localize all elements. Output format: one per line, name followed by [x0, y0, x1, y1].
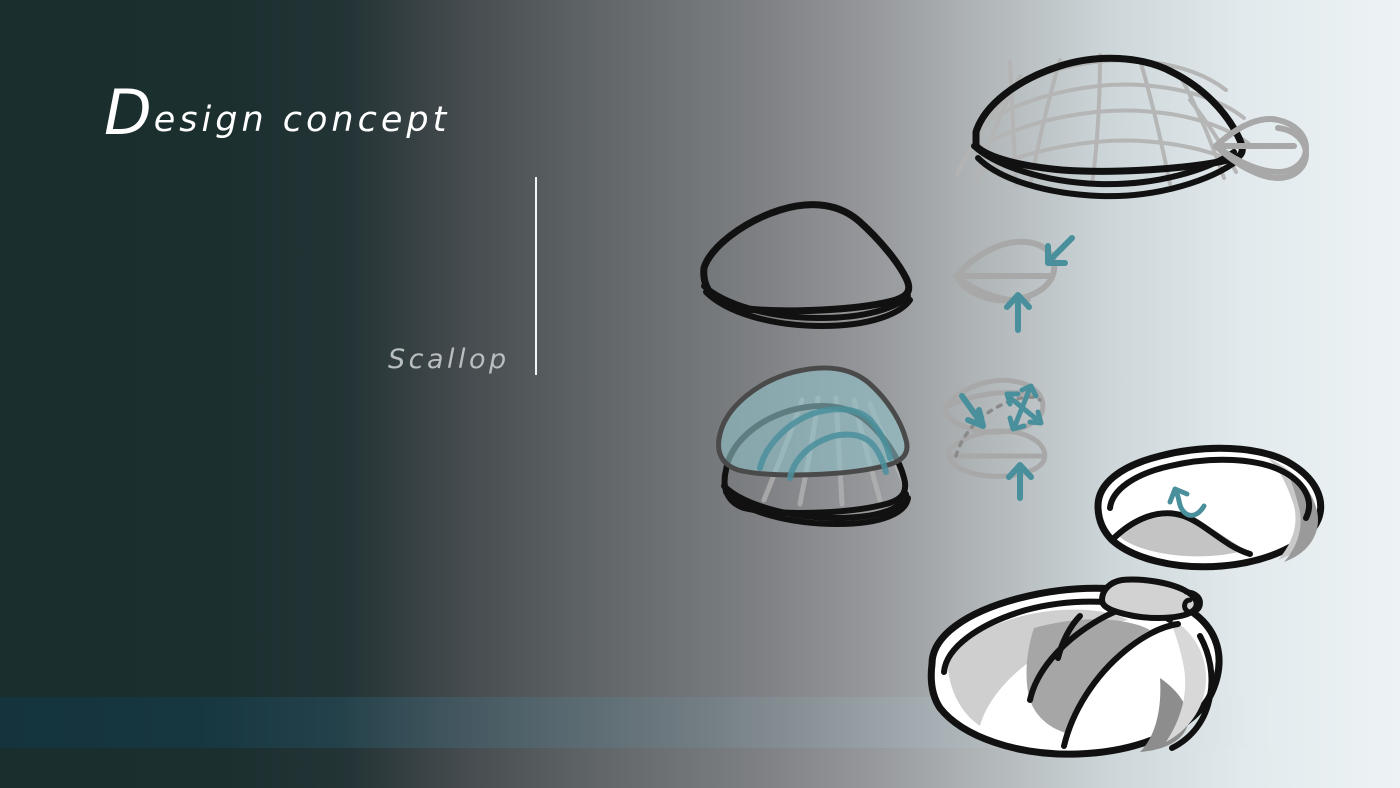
background-band-bottom — [0, 748, 1400, 788]
background-band-middle — [0, 697, 1400, 748]
vertical-divider — [535, 177, 537, 375]
title-capital-letter: D — [104, 76, 154, 149]
page-title: Design concept — [104, 82, 450, 144]
title-rest: esign concept — [154, 100, 451, 140]
subtitle-scallop: Scallop — [388, 344, 510, 375]
design-concept-slide: Design concept Scallop .ink { fill:none;… — [0, 0, 1400, 788]
